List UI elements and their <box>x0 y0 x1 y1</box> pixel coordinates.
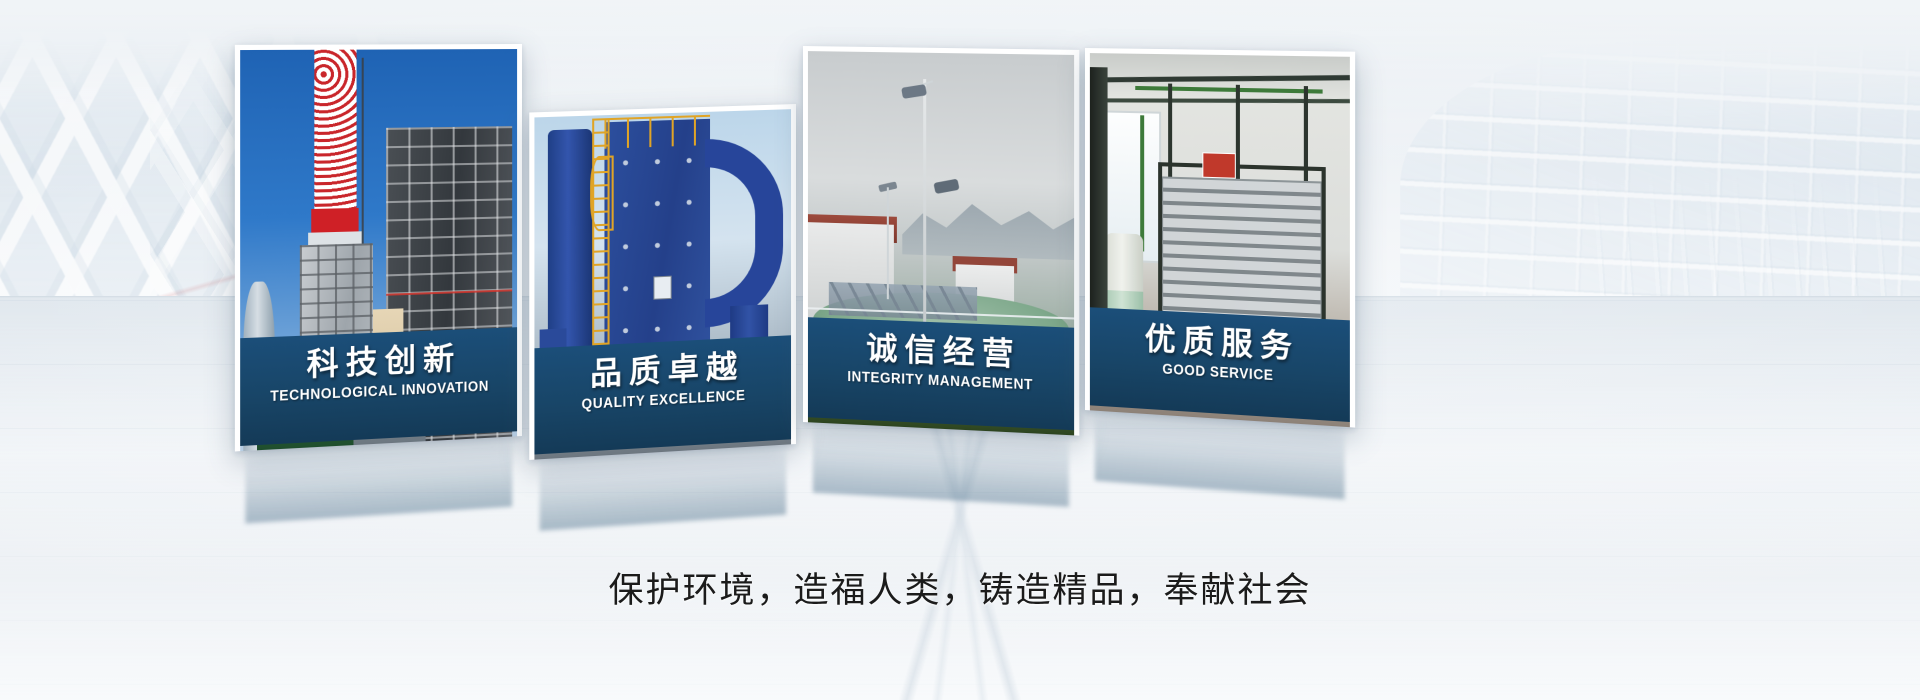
panel-caption: 品质卓越 QUALITY EXCELLENCE <box>534 335 791 454</box>
panel-frame: 科技创新 TECHNOLOGICAL INNOVATION <box>235 44 522 451</box>
overhead-pipe-2 <box>1090 98 1350 103</box>
scraper-bridge-shape <box>829 282 977 321</box>
panel-caption: 诚信经营 INTEGRITY MANAGEMENT <box>808 317 1074 430</box>
panel-caption: 优质服务 GOOD SERVICE <box>1090 307 1350 422</box>
vessel-bolt-pattern <box>610 139 705 353</box>
panel-reflection <box>1095 411 1345 500</box>
feature-panel-integrity-management[interactable]: 诚信经营 INTEGRITY MANAGEMENT <box>803 46 1079 436</box>
feature-panel-good-service[interactable]: 优质服务 GOOD SERVICE <box>1085 48 1355 428</box>
panel-reflection <box>540 445 786 531</box>
feature-panel-quality-excellence[interactable]: 品质卓越 QUALITY EXCELLENCE <box>529 104 796 460</box>
top-railing-shape <box>605 115 710 149</box>
panel-frame: 优质服务 GOOD SERVICE <box>1085 48 1355 428</box>
banner-tagline: 保护环境，造福人类，铸造精品，奉献社会 <box>0 562 1920 613</box>
u-bend-pipe-shape <box>705 136 783 328</box>
street-lamp-far-pole <box>886 187 888 299</box>
panel-reflection <box>813 422 1069 506</box>
feature-panel-technological-innovation[interactable]: 科技创新 TECHNOLOGICAL INNOVATION <box>235 44 522 451</box>
panel-caption: 科技创新 TECHNOLOGICAL INNOVATION <box>240 327 517 446</box>
mountain-range-shape <box>902 187 1074 260</box>
red-warning-sign <box>1202 153 1236 179</box>
mast-shape <box>362 57 364 247</box>
banner-stage: 科技创新 TECHNOLOGICAL INNOVATION <box>0 0 1920 700</box>
green-pipe-vertical <box>1140 115 1144 252</box>
spiral-stack-shape <box>314 49 356 225</box>
panel-frame: 诚信经营 INTEGRITY MANAGEMENT <box>803 46 1079 436</box>
ladder-safety-cage <box>591 156 614 232</box>
street-lamp-mid <box>933 179 959 194</box>
panel-frame: 品质卓越 QUALITY EXCELLENCE <box>529 104 796 460</box>
instrument-box-shape <box>654 275 672 300</box>
panel-reflection <box>245 437 512 524</box>
